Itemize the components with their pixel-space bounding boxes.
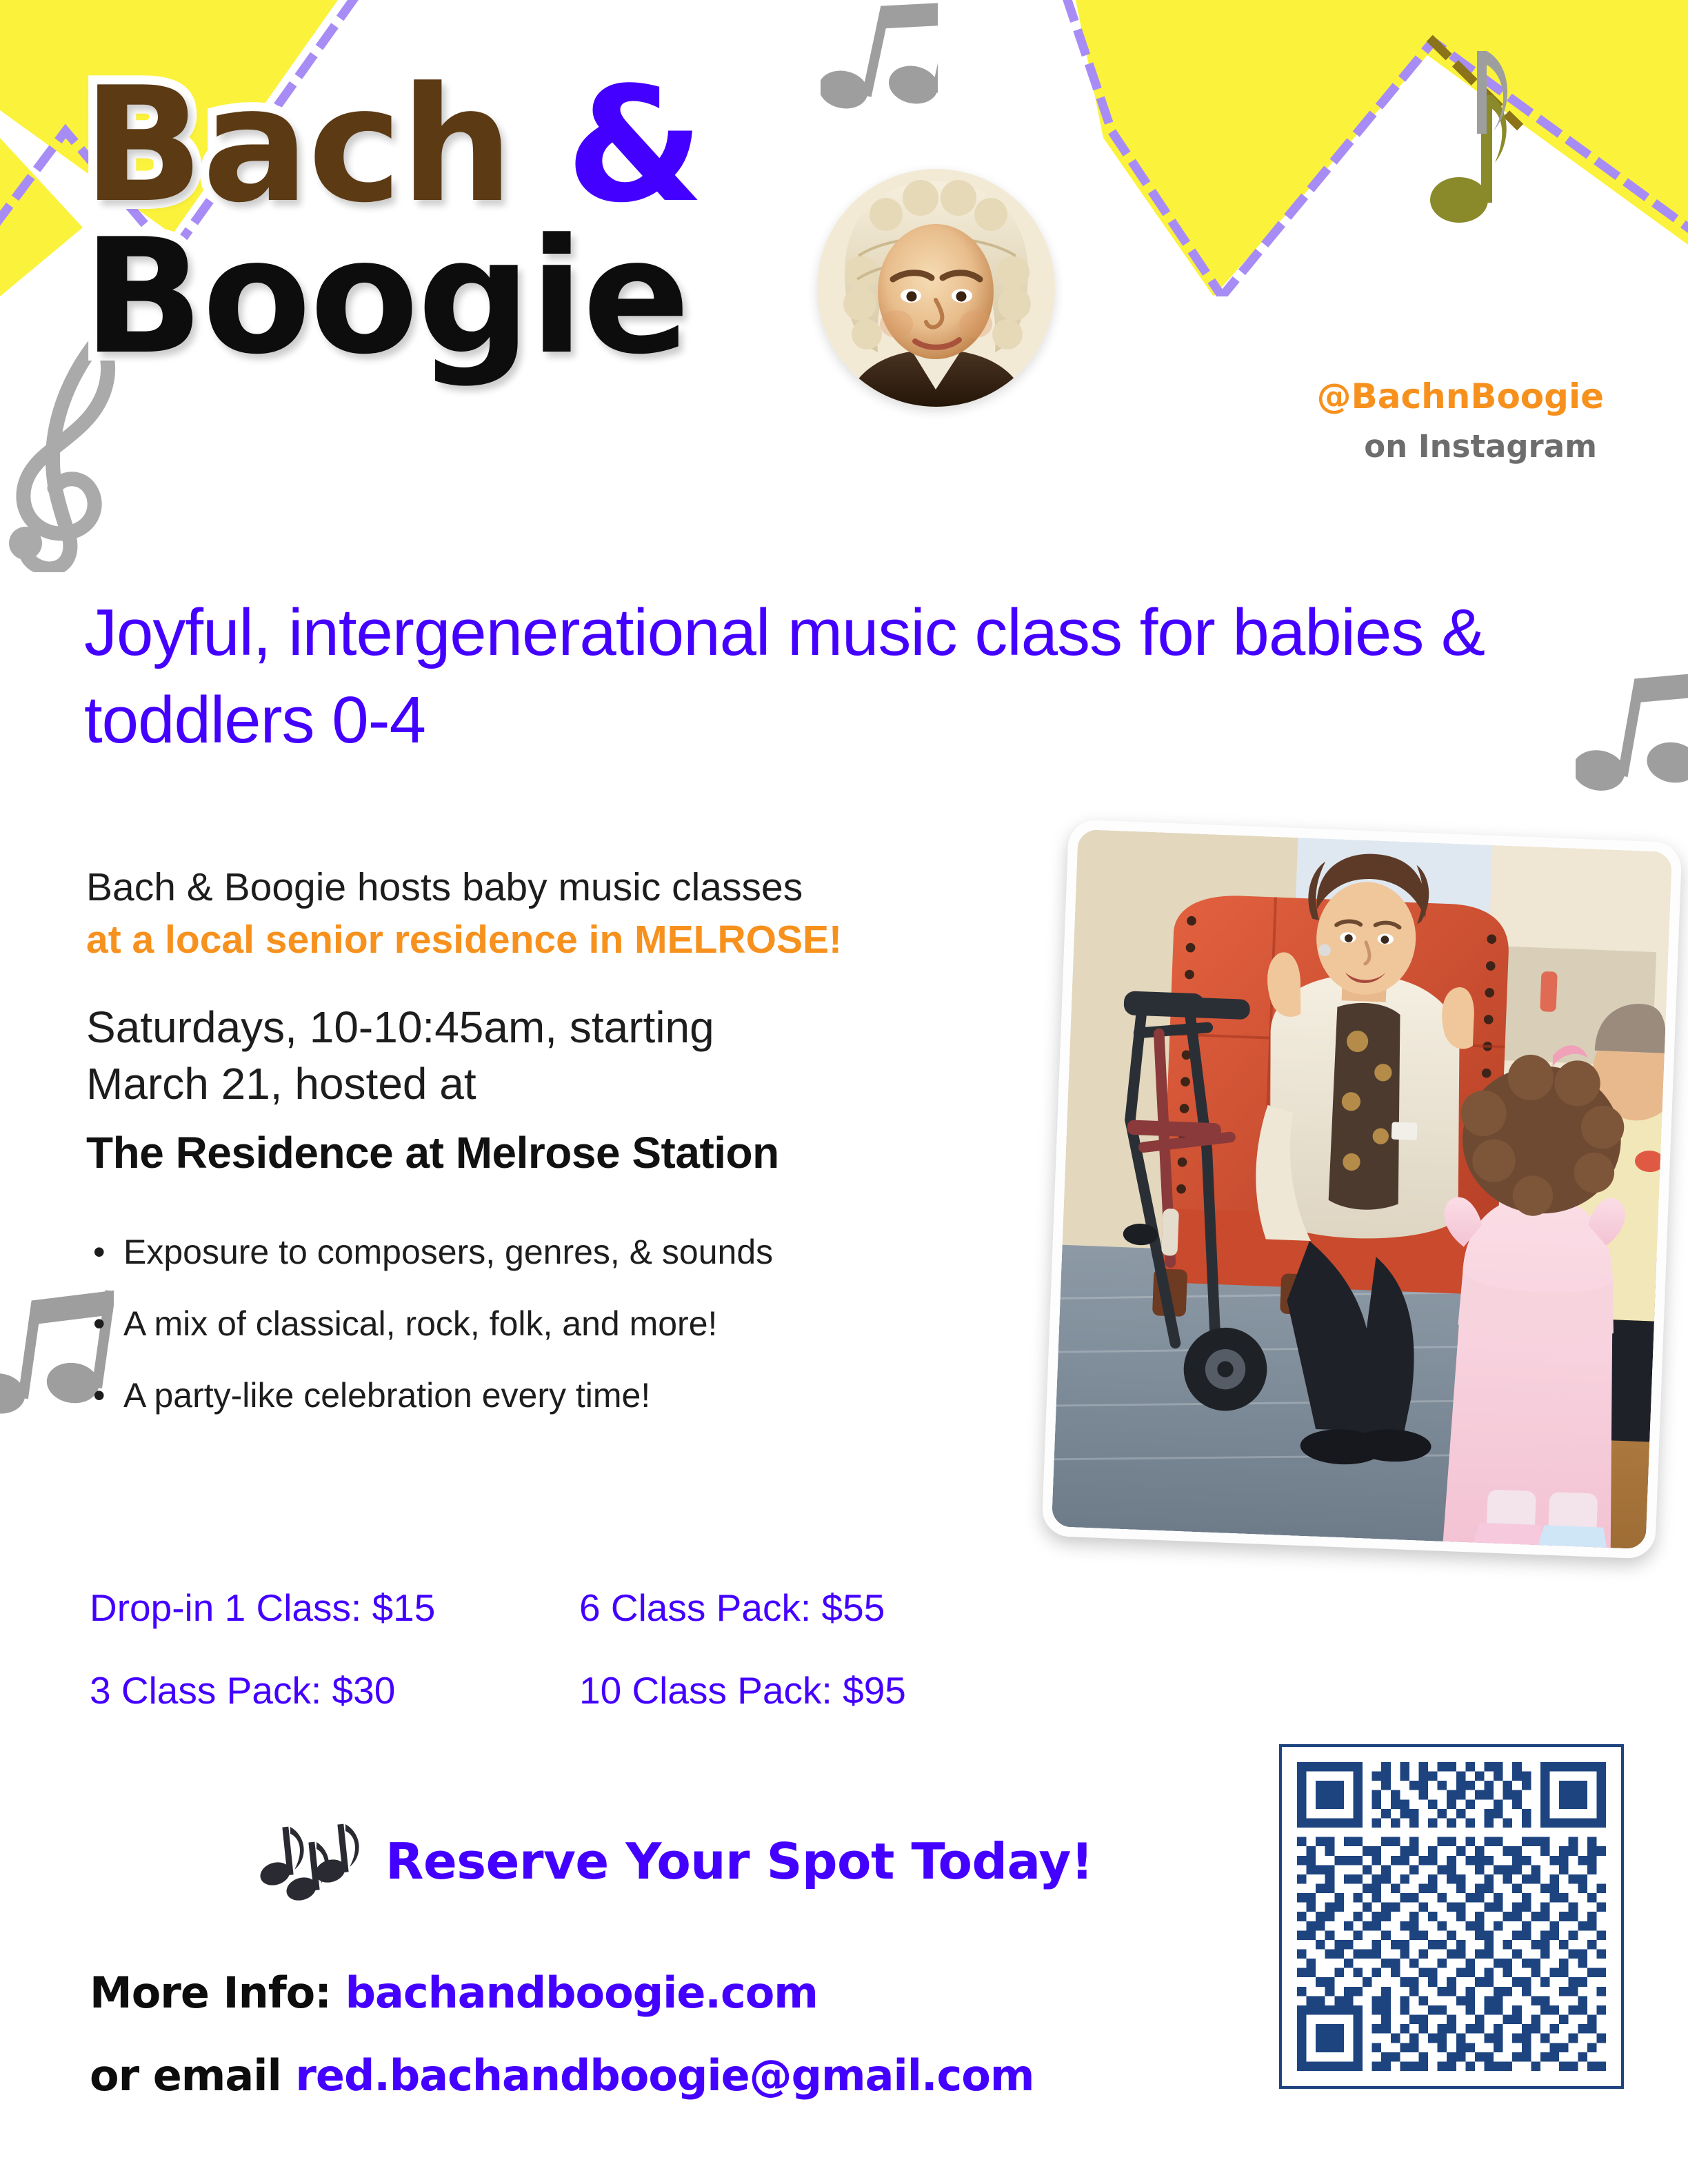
list-item: • A mix of classical, rock, folk, and mo… (86, 1302, 1052, 1345)
bullet-marker-icon: • (93, 1302, 105, 1345)
bullet-marker-icon: • (93, 1231, 105, 1273)
cta-block[interactable]: Reserve Your Spot Today! (259, 1820, 1093, 1903)
title-word-boogie: Boogie (83, 205, 689, 390)
instagram-block: @BachnBoogie on Instagram (1317, 378, 1604, 465)
eighth-note-icon (1427, 76, 1517, 234)
schedule-line-2: March 21, hosted at (86, 1056, 1052, 1113)
pricing-grid: Drop-in 1 Class: $15 6 Class Pack: $55 3… (90, 1586, 1069, 1712)
list-item-label: A mix of classical, rock, folk, and more… (123, 1304, 717, 1343)
website-row: More Info: bachandboogie.com (90, 1972, 1331, 2014)
price-dropin: Drop-in 1 Class: $15 (90, 1586, 579, 1630)
list-item-label: Exposure to composers, genres, & sounds (123, 1233, 773, 1271)
website-link[interactable]: bachandboogie.com (345, 1968, 818, 2018)
qr-code[interactable] (1279, 1744, 1624, 2089)
instagram-handle[interactable]: @BachnBoogie (1317, 378, 1604, 416)
email-row: or email red.bachandboogie@gmail.com (90, 2054, 1331, 2097)
flyer-page: Bach & Boogie (0, 0, 1688, 2184)
venue-name: The Residence at Melrose Station (86, 1127, 1052, 1178)
bullet-marker-icon: • (93, 1374, 105, 1417)
bach-portrait (817, 169, 1055, 407)
intro-paragraph: Bach & Boogie hosts baby music classes a… (86, 862, 1052, 967)
contact-block: More Info: bachandboogie.com or email re… (90, 1972, 1331, 2097)
list-item: • Exposure to composers, genres, & sound… (86, 1231, 1052, 1273)
cta-label[interactable]: Reserve Your Spot Today! (385, 1832, 1093, 1890)
intro-line-2-melrose: at a local senior residence in MELROSE! (86, 914, 1052, 967)
more-info-label: More Info: (90, 1968, 345, 2018)
music-notes-icon (259, 1820, 362, 1903)
features-list: • Exposure to composers, genres, & sound… (86, 1231, 1052, 1417)
eighth-notes-icon (1576, 641, 1688, 824)
schedule-line-1: Saturdays, 10-10:45am, starting (86, 1000, 1052, 1056)
class-photo-inner (1052, 829, 1672, 1549)
headline: Joyful, intergenerational music class fo… (84, 589, 1553, 764)
list-item-label: A party-like celebration every time! (123, 1376, 650, 1415)
class-photo (1041, 819, 1682, 1559)
price-10-pack: 10 Class Pack: $95 (579, 1668, 1069, 1712)
instagram-platform-label: on Instagram (1317, 428, 1597, 465)
email-link[interactable]: red.bachandboogie@gmail.com (295, 2050, 1034, 2101)
intro-line-1: Bach & Boogie hosts baby music classes (86, 862, 1052, 914)
email-label: or email (90, 2050, 295, 2101)
schedule-block: Saturdays, 10-10:45am, starting March 21… (86, 1000, 1052, 1113)
price-3-pack: 3 Class Pack: $30 (90, 1668, 579, 1712)
price-6-pack: 6 Class Pack: $55 (579, 1586, 1069, 1630)
list-item: • A party-like celebration every time! (86, 1374, 1052, 1417)
body-column: Bach & Boogie hosts baby music classes a… (86, 862, 1052, 1446)
eighth-note-icon (1463, 34, 1546, 172)
